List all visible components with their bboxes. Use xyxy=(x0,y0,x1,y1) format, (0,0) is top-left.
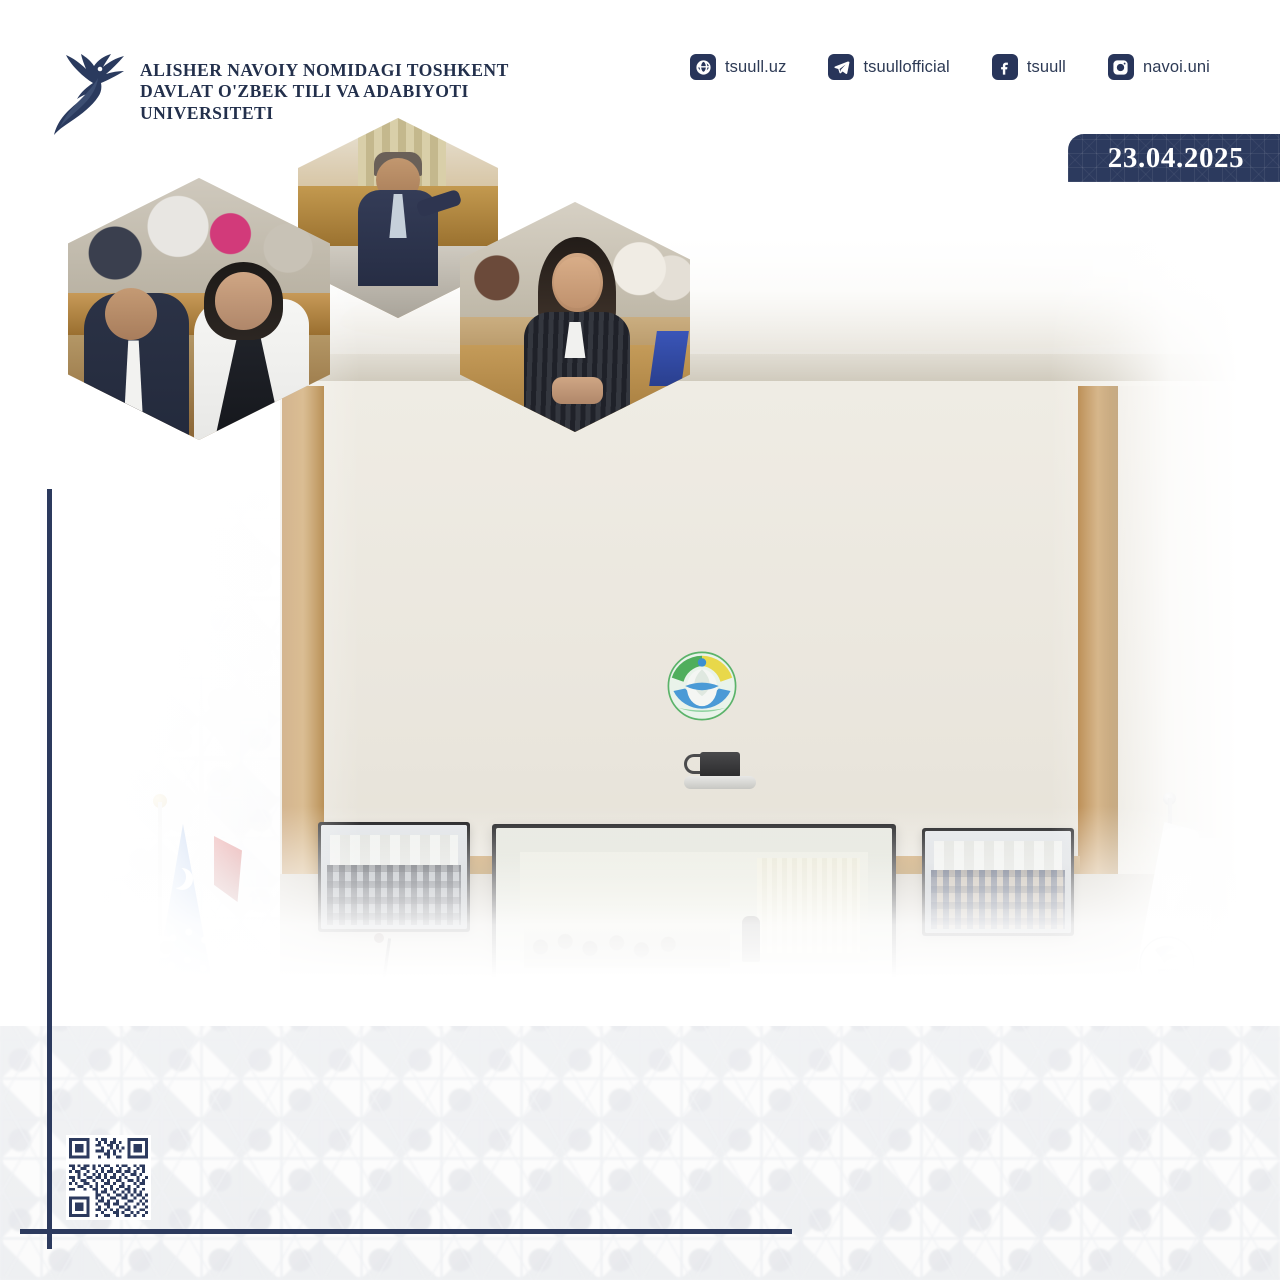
date-text: 23.04.2025 xyxy=(1108,142,1245,175)
hex-photo-seated-guests xyxy=(68,178,330,440)
poster-header: ALISHER NAVOIY NOMIDAGI TOSHKENT DAVLAT … xyxy=(0,0,1280,140)
social-link-facebook[interactable]: tsuull xyxy=(992,54,1066,80)
hexa-person-one-head xyxy=(105,288,157,340)
projector-mount-plate xyxy=(684,776,756,789)
hexa-person-two-head xyxy=(215,272,273,330)
projector-body xyxy=(700,752,740,778)
social-handle-telegram: tsuullofficial xyxy=(863,58,949,77)
qr-code[interactable] xyxy=(66,1135,151,1220)
social-link-instagram[interactable]: navoi.uni xyxy=(1108,54,1210,80)
social-link-telegram[interactable]: tsuullofficial xyxy=(828,54,949,80)
hexc-person-face xyxy=(554,257,600,308)
photo-fade-bottom xyxy=(0,806,1280,1026)
social-handle-facebook: tsuull xyxy=(1027,58,1066,77)
globe-icon xyxy=(690,54,716,80)
hex-photo-seated-guests-image xyxy=(68,178,330,440)
instagram-icon xyxy=(1108,54,1134,80)
hexc-person-hands xyxy=(552,377,603,405)
frame-horizontal-rule xyxy=(20,1229,792,1234)
date-badge: 23.04.2025 xyxy=(1068,134,1280,182)
phoenix-bird-logo-icon xyxy=(48,38,140,138)
facebook-icon xyxy=(992,54,1018,80)
social-links: tsuull.uz tsuullofficial tsuull xyxy=(690,54,1210,80)
social-handle-instagram: navoi.uni xyxy=(1143,58,1210,77)
social-link-website[interactable]: tsuull.uz xyxy=(690,54,786,80)
ceiling-projector xyxy=(678,748,760,794)
hexagon-photo-cluster xyxy=(60,110,660,450)
uzbekistan-state-emblem-icon xyxy=(660,644,744,728)
organization-title: ALISHER NAVOIY NOMIDAGI TOSHKENT DAVLAT … xyxy=(140,60,570,124)
hexa-back-row xyxy=(68,178,330,299)
social-handle-website: tsuull.uz xyxy=(725,58,786,77)
frame-vertical-rule xyxy=(47,489,52,1249)
poster-canvas: ALISHER NAVOIY NOMIDAGI TOSHKENT DAVLAT … xyxy=(0,0,1280,1280)
telegram-icon xyxy=(828,54,854,80)
